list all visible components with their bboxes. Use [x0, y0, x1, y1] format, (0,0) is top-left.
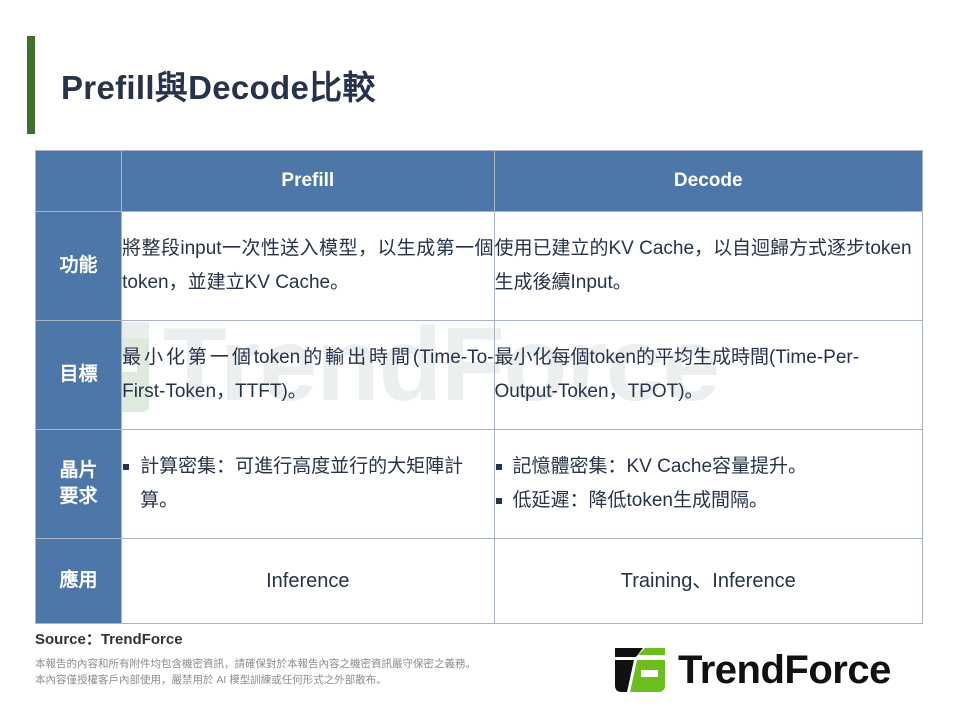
cell-chip-decode: 記憶體密集：KV Cache容量提升。 低延遲：降低token生成間隔。: [494, 430, 923, 539]
row-label-chip-line2: 要求: [36, 484, 121, 510]
cell-function-prefill: 將整段input一次性送入模型，以生成第一個token，並建立KV Cache。: [122, 212, 494, 321]
bullet-text: 低延遲：降低token生成間隔。: [513, 490, 768, 511]
comparison-table: Prefill Decode 功能 將整段input一次性送入模型，以生成第一個…: [35, 150, 923, 624]
title-accent-bar: [27, 36, 35, 134]
bullet-list-prefill: 計算密集：可進行高度並行的大矩陣計算。: [122, 450, 485, 518]
square-bullet-icon: [123, 464, 129, 470]
bullet-text: 記憶體密集：KV Cache容量提升。: [513, 456, 808, 477]
list-item: 計算密集：可進行高度並行的大矩陣計算。: [122, 450, 485, 518]
square-bullet-icon: [496, 464, 502, 470]
slide-title-block: Prefill與Decode比較: [27, 36, 376, 134]
trendforce-logo-text: TrendForce: [678, 650, 891, 690]
square-bullet-icon: [496, 498, 502, 504]
footer: Source：TrendForce 本報告的內容和所有附件均包含機密資訊，請確保…: [35, 628, 555, 688]
cell-function-decode-text: 使用已建立的KV Cache，以自迴歸方式逐步token生成後續Input。: [495, 232, 923, 300]
cell-goal-decode: 最小化每個token的平均生成時間(Time-Per-Output-Token，…: [494, 321, 923, 430]
cell-chip-prefill: 計算密集：可進行高度並行的大矩陣計算。: [122, 430, 494, 539]
list-item: 記憶體密集：KV Cache容量提升。: [495, 450, 915, 484]
header-prefill: Prefill: [122, 151, 494, 212]
list-item: 低延遲：降低token生成間隔。: [495, 484, 915, 518]
table-row: 應用 Inference Training、Inference: [36, 539, 923, 624]
row-label-chip-requirement: 晶片 要求: [36, 430, 122, 539]
table-row: 功能 將整段input一次性送入模型，以生成第一個token，並建立KV Cac…: [36, 212, 923, 321]
source-label: Source：TrendForce: [35, 628, 555, 649]
cell-goal-prefill-text: 最小化第一個token的輸出時間(Time-To-First-Token，TTF…: [122, 341, 493, 409]
disclaimer-line-2: 本內容僅授權客戶內部使用，嚴禁用於 AI 模型訓練或任何形式之外部散布。: [35, 672, 555, 688]
row-label-function: 功能: [36, 212, 122, 321]
row-label-chip-line1: 晶片: [36, 458, 121, 484]
page-title: Prefill與Decode比較: [61, 61, 376, 109]
table-row: 晶片 要求 計算密集：可進行高度並行的大矩陣計算。 記憶體密集：KV Cache…: [36, 430, 923, 539]
row-label-application: 應用: [36, 539, 122, 624]
cell-goal-decode-text: 最小化每個token的平均生成時間(Time-Per-Output-Token，…: [495, 341, 923, 409]
cell-goal-prefill: 最小化第一個token的輸出時間(Time-To-First-Token，TTF…: [122, 321, 494, 430]
disclaimer-line-1: 本報告的內容和所有附件均包含機密資訊，請確保對於本報告內容之機密資訊嚴守保密之義…: [35, 656, 555, 672]
cell-application-decode: Training、Inference: [494, 539, 923, 624]
bullet-text: 計算密集：可進行高度並行的大矩陣計算。: [140, 456, 463, 511]
bullet-list-decode: 記憶體密集：KV Cache容量提升。 低延遲：降低token生成間隔。: [495, 450, 915, 518]
table-header-row: Prefill Decode: [36, 151, 923, 212]
cell-function-prefill-text: 將整段input一次性送入模型，以生成第一個token，並建立KV Cache。: [122, 232, 493, 300]
cell-application-prefill: Inference: [122, 539, 494, 624]
trendforce-logo: TrendForce: [612, 645, 891, 695]
header-corner-cell: [36, 151, 122, 212]
cell-function-decode: 使用已建立的KV Cache，以自迴歸方式逐步token生成後續Input。: [494, 212, 923, 321]
table-row: 目標 最小化第一個token的輸出時間(Time-To-First-Token，…: [36, 321, 923, 430]
header-decode: Decode: [494, 151, 923, 212]
row-label-goal: 目標: [36, 321, 122, 430]
trendforce-logo-mark-icon: [612, 645, 668, 695]
